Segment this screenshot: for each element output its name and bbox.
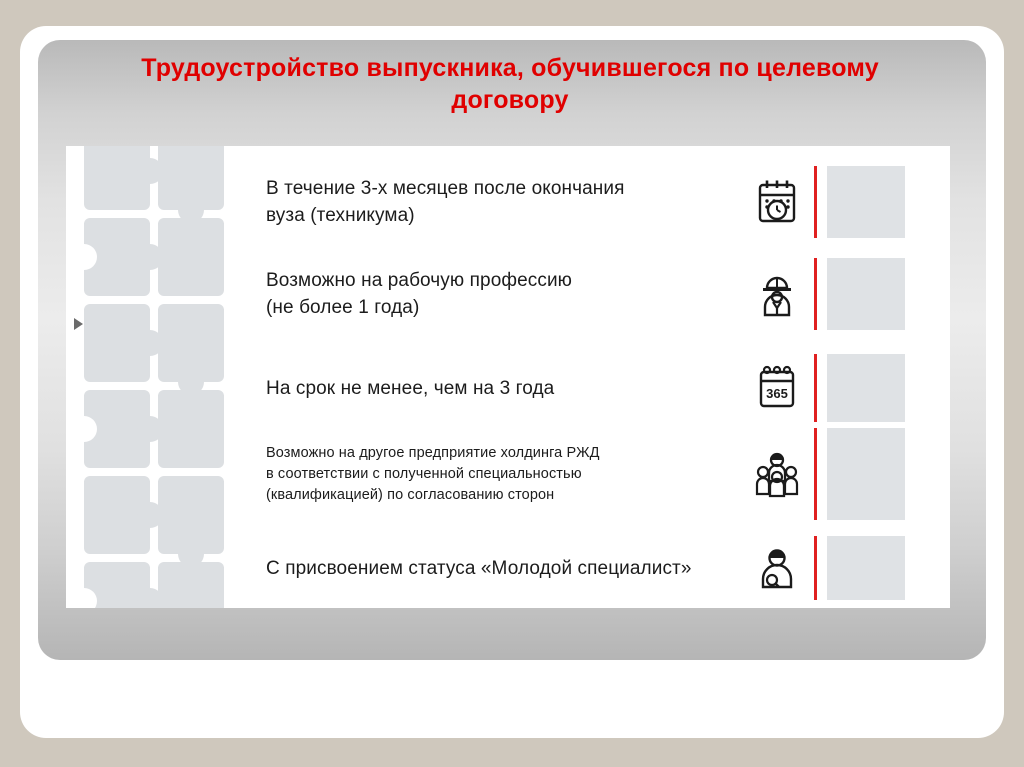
row-tag [827,536,905,600]
row-text-line: в соответствии с полученной специальност… [266,464,746,485]
row-text-line: (не более 1 года) [266,294,746,321]
row-tag [827,258,905,330]
page-title: Трудоустройство выпускника, обучившегося… [90,52,930,116]
row-text: Возможно на рабочую профессию (не более … [266,267,746,321]
row-text-line: С присвоением статуса «Молодой специалис… [266,555,746,582]
list-item: Возможно на другое предприятие холдинга … [266,428,950,520]
list-item: С присвоением статуса «Молодой специалис… [266,536,950,600]
row-text-line: В течение 3-х месяцев после окончания [266,175,746,202]
row-divider [814,354,817,422]
calendar-clock-icon [746,179,808,225]
slide-content-panel: В течение 3-х месяцев после окончания ву… [66,146,950,608]
calendar-365-icon: 365 [746,365,808,411]
worker-helmet-icon [746,271,808,317]
calendar-365-label: 365 [766,386,788,401]
row-text: На срок не менее, чем на 3 года [266,375,746,402]
page-background: Трудоустройство выпускника, обучившегося… [0,0,1024,767]
row-tag [827,428,905,520]
list-item: Возможно на рабочую профессию (не более … [266,258,950,330]
row-text: Возможно на другое предприятие холдинга … [266,443,746,506]
info-rows: В течение 3-х месяцев после окончания ву… [66,146,950,608]
row-text-line: (квалификацией) по согласованию сторон [266,485,746,506]
row-divider [814,536,817,600]
row-text-line: На срок не менее, чем на 3 года [266,375,746,402]
specialist-badge-icon [746,545,808,591]
row-tag [827,354,905,422]
row-text: В течение 3-х месяцев после окончания ву… [266,175,746,229]
row-text-line: Возможно на другое предприятие холдинга … [266,443,746,464]
row-text: С присвоением статуса «Молодой специалис… [266,555,746,582]
row-text-line: Возможно на рабочую профессию [266,267,746,294]
list-item: На срок не менее, чем на 3 года 365 [266,354,950,422]
row-divider [814,258,817,330]
row-text-line: вуза (техникума) [266,202,746,229]
row-divider [814,428,817,520]
row-divider [814,166,817,238]
row-tag [827,166,905,238]
team-group-icon [746,450,808,498]
list-item: В течение 3-х месяцев после окончания ву… [266,166,950,238]
